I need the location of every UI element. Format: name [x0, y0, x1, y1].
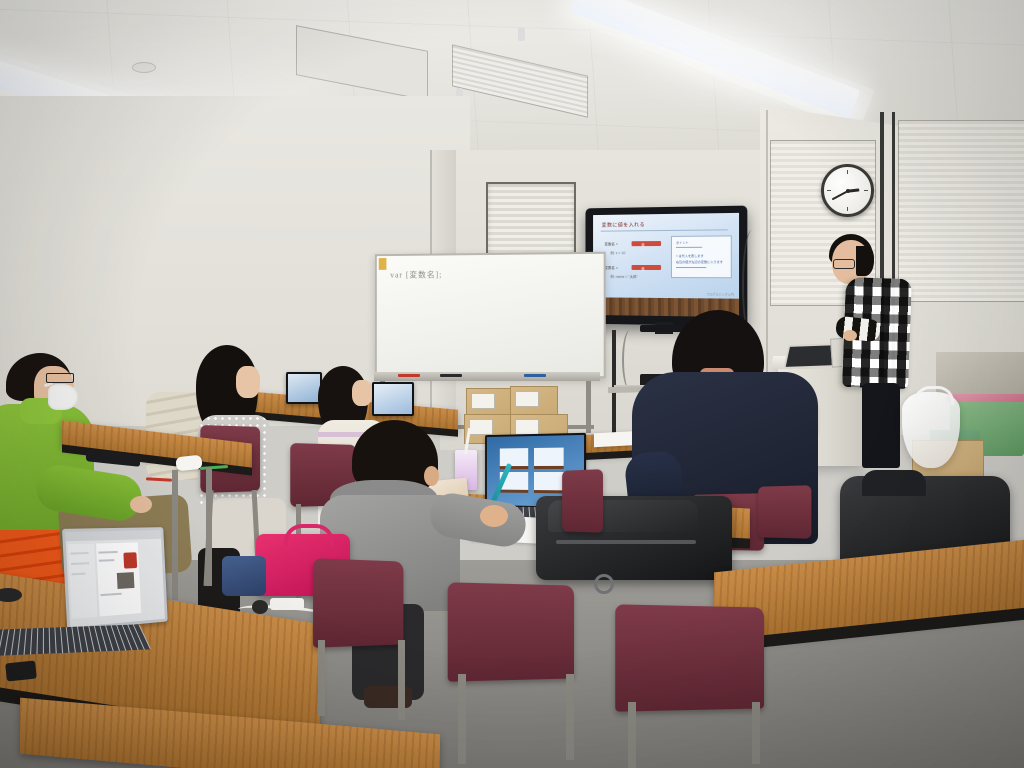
laptop-row-left[interactable]: [286, 372, 322, 404]
whiteboard-text: var [変数名];: [390, 269, 442, 280]
laptop-bag-zipper: [556, 540, 696, 544]
laptop-silver-display: [65, 530, 165, 627]
laptop-pane-1: [500, 448, 528, 469]
whiteboard-marker-tray: [374, 372, 600, 381]
clock-center-dot: [846, 189, 850, 193]
feed-thumb: [117, 572, 135, 589]
student-green-hand: [130, 496, 152, 513]
student-knit-face: [352, 380, 372, 406]
classroom-scene: 変数に値を入れる 変数名 = 値 例: x = 10 変数名 = 値 例: na…: [0, 0, 1024, 768]
browser-topbar: [65, 530, 161, 541]
instructor-hand: [843, 330, 857, 341]
wall-cabinet-right: [936, 352, 1024, 394]
chair-right-side-2[interactable]: [758, 485, 811, 539]
power-plug: [252, 600, 268, 614]
laptop-pane-2: [534, 448, 564, 469]
bag-blue-floor: [222, 556, 266, 596]
slide-bullet-1-prefix: 変数名 =: [605, 242, 618, 247]
slide-bullet-1-sub: 例: x = 10: [610, 251, 625, 256]
box-label-3: [469, 419, 493, 435]
slide-note-text-1: = は代入を表します: [676, 253, 704, 258]
wall-clock: [821, 164, 874, 217]
presentation-monitor[interactable]: 変数に値を入れる 変数名 = 値 例: x = 10 変数名 = 値 例: na…: [585, 206, 747, 327]
slide-note-line-1: [676, 247, 702, 248]
slide-content: 変数に値を入れる 変数名 = 値 例: x = 10 変数名 = 値 例: na…: [593, 213, 739, 299]
slide-bullet-2-sub: 例: name = "太郎": [610, 275, 638, 280]
marker-blue[interactable]: [524, 374, 546, 377]
student-hoodie-hand: [480, 505, 508, 527]
ceiling-speaker-icon: [132, 62, 156, 73]
student-polkadot-face: [236, 366, 260, 398]
red-pen: [146, 477, 172, 481]
clock-tick-12: [847, 170, 849, 174]
bag-pink-handle: [284, 524, 334, 546]
student-hoodie-ear: [424, 466, 439, 486]
chair-foreground-1-leg-l: [318, 640, 325, 716]
marker-red[interactable]: [398, 374, 420, 377]
clock-tick-3: [864, 190, 868, 192]
chair-right-side[interactable]: [562, 469, 603, 533]
slide-note-text-2: 右辺の値が左辺の変数に入ります: [676, 259, 723, 264]
feed-avatar: [123, 552, 137, 568]
student-green-glasses-icon: [46, 373, 74, 383]
chair-foreground-1-leg-r: [398, 640, 405, 720]
laptop-row-middle[interactable]: [372, 382, 414, 416]
slide-note-heading: ポイント: [676, 240, 689, 245]
slide-footer: プログラミング入門: [706, 292, 734, 296]
chair-foreground-3-leg-l: [628, 702, 636, 768]
slide-note-line-2: [676, 267, 706, 268]
marker-black[interactable]: [440, 374, 462, 377]
instructor-glasses-icon: [833, 259, 855, 269]
chair-frame-left: [172, 470, 178, 600]
slide-bullet-2-chip: [632, 265, 661, 270]
laptop-sticker: [5, 660, 37, 681]
window-blinds-right[interactable]: [898, 120, 1024, 302]
magnet-icon: [379, 258, 387, 270]
clock-tick-6: [847, 207, 849, 211]
chair-foreground-3-leg-r: [752, 702, 760, 764]
slide-bullet-2-chip-label: 値: [641, 266, 644, 271]
sprinkler-icon: [518, 28, 525, 41]
browser-sidebar: [68, 544, 98, 619]
laptop-bag-strap-ring: [594, 574, 614, 594]
box-label: [471, 393, 495, 409]
slide-bullet-1-chip: [632, 241, 661, 246]
instructor-arm: [835, 316, 881, 342]
laptop-silver-foreground[interactable]: [62, 527, 168, 631]
slide-note-box: ポイント = は代入を表します 右辺の値が左辺の変数に入ります: [671, 235, 732, 278]
back-window-blinds[interactable]: [486, 182, 576, 260]
laptop-row-left-display: [288, 374, 320, 402]
slide-title: 変数に値を入れる: [602, 221, 645, 228]
chair-foreground-1[interactable]: [313, 558, 403, 647]
whiteboard[interactable]: var [変数名];: [375, 252, 606, 379]
desk-leg-left: [206, 468, 212, 586]
face-mask-icon: [48, 384, 78, 410]
slide-bullet-1-chip-label: 値: [641, 242, 644, 247]
instructor-hair-back: [856, 246, 874, 276]
chair-foreground-2[interactable]: [448, 582, 574, 681]
box-label-4: [515, 419, 539, 435]
monitor-screen: 変数に値を入れる 変数名 = 値 例: x = 10 変数名 = 値 例: na…: [593, 213, 739, 299]
slide-title-rule: [601, 229, 728, 231]
chair-foreground-2-leg-l: [458, 674, 466, 764]
power-strip: [270, 598, 304, 610]
chair-foreground-3[interactable]: [615, 604, 764, 711]
laptop-pane-4: [534, 472, 564, 493]
plastic-bag-handle: [914, 386, 954, 405]
laptop-row-middle-display: [374, 384, 412, 414]
chair-foreground-2-leg-r: [566, 674, 574, 760]
box-label-2: [515, 391, 539, 407]
monitor-cable-2: [622, 330, 638, 390]
instructor-legs: [862, 383, 900, 468]
slide-bullet-2-prefix: 変数名 =: [605, 266, 618, 271]
clock-tick-9: [827, 190, 831, 192]
backpack-strap: [862, 470, 926, 496]
